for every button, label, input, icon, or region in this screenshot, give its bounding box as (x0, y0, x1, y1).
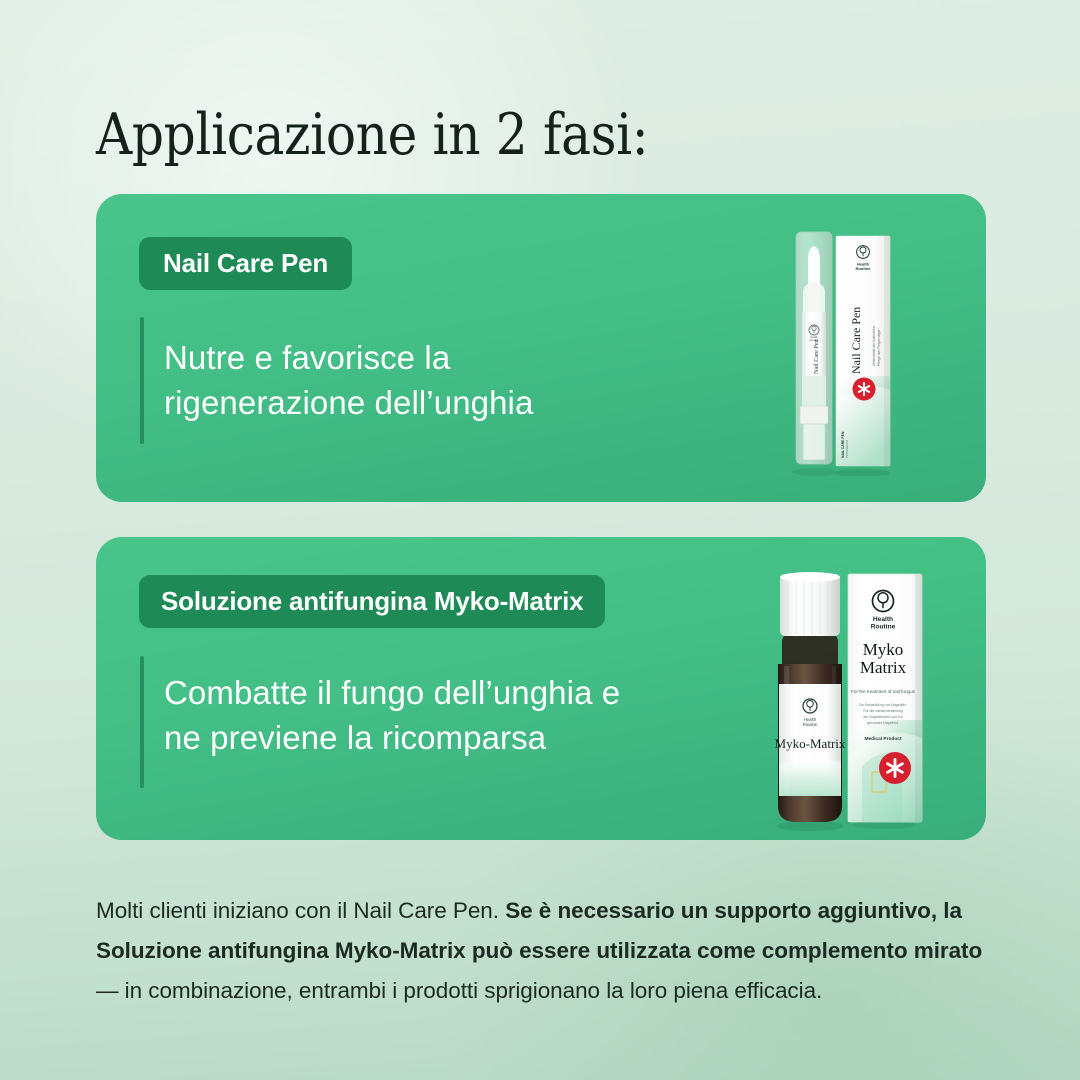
svg-text:Routine: Routine (871, 624, 896, 631)
svg-text:Zur Behandlung von Nagelpilz.: Zur Behandlung von Nagelpilz. (859, 703, 907, 707)
box-category-text: Medical Product (864, 736, 901, 742)
page-title: Applicazione in 2 fasi: (96, 106, 648, 166)
step-description-2: Combatte il fungo dell’unghia e ne previ… (164, 671, 784, 761)
pen-label-text: Nail Care Pen (813, 339, 820, 374)
step-description-1: Nutre e favorisce la rigenerazione dell’… (164, 336, 724, 426)
accent-bar-1 (140, 317, 144, 444)
svg-text:Pflege der Fingernägel: Pflege der Fingernägel (877, 329, 881, 366)
svg-text:NAIL CARE PEN: NAIL CARE PEN (841, 431, 845, 458)
svg-text:Für die wiederherstellung: Für die wiederherstellung (863, 709, 902, 713)
box-title-line1: Myko (863, 640, 904, 659)
accent-bar-2 (140, 656, 144, 788)
svg-text:gesundes Nagelbild.: gesundes Nagelbild. (867, 721, 899, 725)
footnote-part2: — in combinazione, entrambi i prodotti s… (96, 978, 822, 1003)
svg-text:Unterstützt die Natürliche: Unterstützt die Natürliche (872, 326, 876, 366)
svg-text:der Nagelstruktur und ein: der Nagelstruktur und ein (863, 715, 902, 719)
product-image-nail-care-pen: Health Routine Nail Care Pen Health Rout… (774, 226, 900, 476)
product-image-myko-matrix: Health Routine Myko Matrix For the treat… (752, 560, 934, 832)
box-title-line2: Matrix (860, 658, 907, 677)
seal-badge-icon-2 (879, 752, 911, 784)
svg-text:TRATAMIENTO: TRATAMIENTO (845, 440, 849, 458)
svg-text:Routine: Routine (803, 722, 818, 727)
box-title-text: Nail Care Pen (849, 307, 863, 374)
footnote-paragraph: Molti clienti iniziano con il Nail Care … (96, 891, 986, 1011)
seal-badge-icon (853, 378, 876, 401)
box-brand-text: Health (873, 616, 893, 623)
promo-graphic: Applicazione in 2 fasi: Nail Care Pen Nu… (0, 0, 1080, 1080)
box-claim-text: For the treatment of nail fungus (851, 689, 916, 694)
step-badge-1: Nail Care Pen (139, 237, 352, 290)
svg-text:Routine: Routine (856, 266, 872, 271)
footnote-part1: Molti clienti iniziano con il Nail Care … (96, 898, 505, 923)
step-badge-2: Soluzione antifungina Myko-Matrix (139, 575, 605, 628)
